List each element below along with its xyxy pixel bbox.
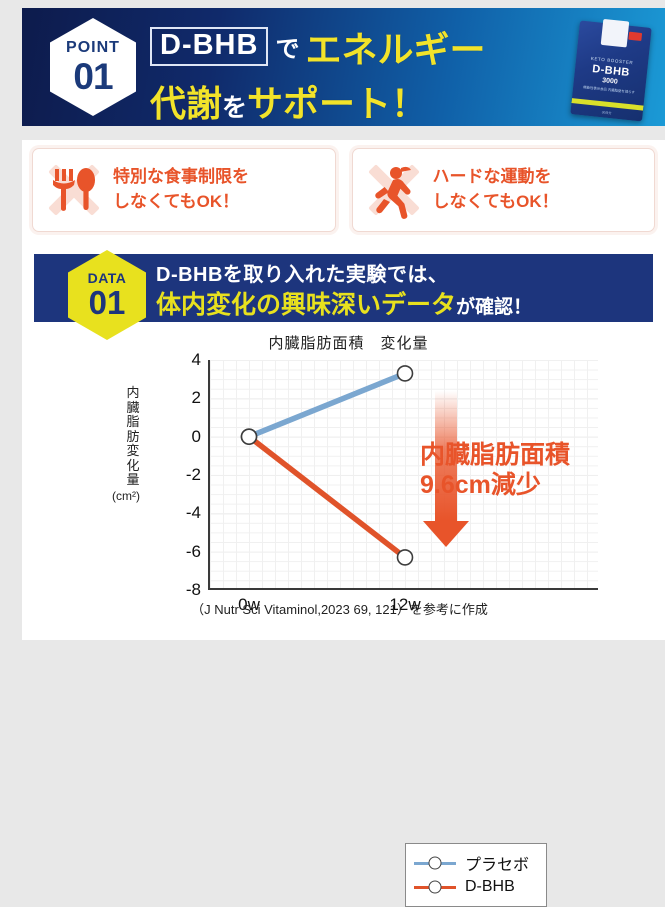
header-line-1: D-BHB で エネルギー: [150, 24, 550, 69]
data-badge-word: DATA: [88, 271, 127, 285]
header-highlight-energy: エネルギー: [305, 21, 485, 73]
header-line-2: 代謝をサポート！: [150, 75, 550, 126]
header-particle-de: で: [275, 29, 299, 64]
benefit-text-exercise: ハードな運動を しなくてもOK！: [433, 165, 559, 214]
point-badge-word: POINT: [66, 40, 120, 56]
dbhb-label: D-BHB: [150, 27, 268, 65]
y-axis-tick: -4: [186, 503, 201, 523]
benefit-line-1: 特別な食事制限を: [113, 165, 249, 190]
benefit-line-1: ハードな運動を: [433, 165, 559, 190]
data-line-1: D-BHBを取り入れた実験では、: [156, 262, 532, 288]
benefit-card-exercise: ハードな運動を しなくてもOK！: [352, 148, 656, 232]
y-axis-tick: -2: [186, 465, 201, 485]
y-axis-label-text: 内臓脂肪変化量: [126, 385, 139, 487]
chart-legend: プラセボ D-BHB: [405, 843, 547, 907]
brand-logo-icon: [628, 32, 642, 41]
legend-item-placebo: プラセボ: [414, 851, 538, 875]
data-line-2-tail: が確認！: [456, 297, 532, 318]
header-highlight-support: サポート: [247, 83, 391, 124]
y-axis-tick: 0: [192, 427, 201, 447]
data-point-marker: [242, 429, 257, 444]
benefit-text-diet: 特別な食事制限を しなくてもOK！: [113, 165, 249, 214]
chart-y-axis-label: 内臓脂肪変化量 (cm²): [122, 386, 144, 503]
down-arrow-icon: [423, 521, 469, 547]
annotation-line-1: 内臓脂肪面積: [420, 440, 570, 470]
benefit-line-2: しなくてもOK！: [433, 190, 559, 215]
data-panel: DATA 01 D-BHBを取り入れた実験では、 体内変化の興味深いデータが確認…: [22, 240, 665, 640]
legend-label: D-BHB: [465, 878, 515, 896]
chart-title: 内臓脂肪面積 変化量: [22, 332, 665, 353]
data-line-2-highlight: 体内変化の興味深いデータ: [156, 291, 456, 319]
legend-line-swatch: [414, 862, 456, 865]
fork-spoon-icon: [43, 161, 105, 219]
header-particle-wo: を: [222, 94, 247, 122]
header-highlight-metabolism: 代謝: [150, 83, 222, 124]
y-axis-tick: 2: [192, 388, 201, 408]
y-axis-unit: (cm²): [108, 490, 144, 503]
legend-item-dbhb: D-BHB: [414, 875, 538, 899]
header-exclamation: ！: [391, 83, 427, 124]
data-header-text: D-BHBを取り入れた実験では、 体内変化の興味深いデータが確認！: [156, 262, 532, 321]
data-point-marker: [398, 366, 413, 381]
benefit-card-diet: 特別な食事制限を しなくてもOK！: [32, 148, 336, 232]
chart: 内臓脂肪面積 変化量 内臓脂肪変化量 (cm²) 420-2-4-6-80w12…: [22, 328, 665, 628]
header-banner: POINT 01 D-BHB で エネルギー 代謝をサポート！ KETO BOO…: [22, 8, 665, 126]
y-axis-tick: 4: [192, 350, 201, 370]
data-badge: DATA 01: [68, 250, 146, 340]
point-badge-number: 01: [73, 58, 112, 95]
citation-text: （J Nutr Sci Vitaminol,2023 69, 121）を参考に作…: [22, 599, 665, 618]
header-text: D-BHB で エネルギー 代謝をサポート！: [150, 24, 550, 126]
chart-annotation: 内臓脂肪面積 9.6cm減少: [420, 440, 570, 500]
y-axis-tick: -8: [186, 580, 201, 600]
data-header-bar: DATA 01 D-BHBを取り入れた実験では、 体内変化の興味深いデータが確認…: [34, 254, 653, 322]
package-tab: [601, 19, 630, 48]
data-line-2: 体内変化の興味深いデータが確認！: [156, 290, 532, 321]
data-point-marker: [398, 550, 413, 565]
data-badge-number: 01: [89, 286, 126, 319]
legend-label: プラセボ: [465, 851, 529, 875]
product-package-image: KETO BOOSTER D-BHB 3000 機能性表示食品 内臓脂肪を減らす…: [570, 20, 651, 121]
benefit-line-2: しなくてもOK！: [113, 190, 249, 215]
benefit-cards: 特別な食事制限を しなくてもOK！ ハードな: [22, 140, 665, 240]
annotation-line-2: 9.6cm減少: [420, 470, 570, 500]
running-person-icon: [363, 161, 425, 219]
y-axis-tick: -6: [186, 542, 201, 562]
point-badge: POINT 01: [50, 18, 136, 116]
legend-line-swatch: [414, 886, 456, 889]
promo-page: POINT 01 D-BHB で エネルギー 代謝をサポート！ KETO BOO…: [0, 0, 665, 665]
